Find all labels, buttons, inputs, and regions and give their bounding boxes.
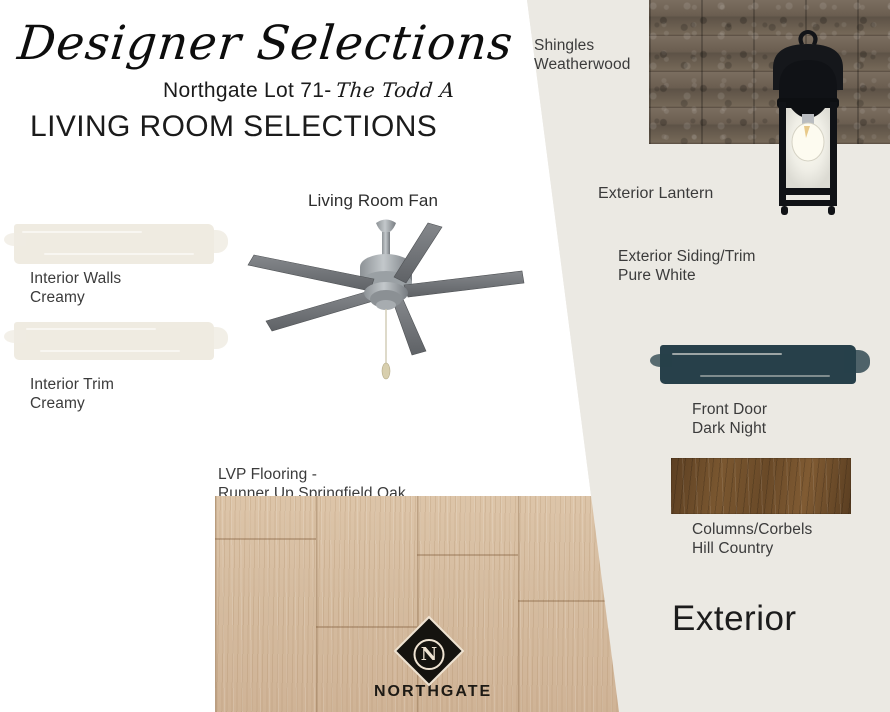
section-heading: LIVING ROOM SELECTIONS [30,110,437,144]
logo-wordmark: NORTHGATE [374,683,484,701]
interior-trim-label: Interior Trim Creamy [30,376,114,413]
exterior-lantern-label: Exterior Lantern [598,184,713,203]
shingles-label: Shingles Weatherwood [534,37,630,74]
logo-diamond-icon: N [396,618,461,683]
designer-selections-board: Designer Selections Northgate Lot 71- Th… [0,0,890,712]
subtitle-model: The Todd A [335,78,456,102]
exterior-heading: Exterior [672,599,797,639]
exterior-siding-label: Exterior Siding/Trim Pure White [618,248,756,285]
interior-walls-swatch [14,224,214,264]
columns-corbels-swatch [671,458,851,514]
interior-walls-label: Interior Walls Creamy [30,270,121,307]
front-door-swatch [660,345,856,384]
subtitle: Northgate Lot 71- The Todd A [163,78,455,103]
exterior-lantern-image [757,28,859,220]
front-door-label: Front Door Dark Night [692,401,767,438]
ceiling-fan-image [236,215,536,395]
logo-monogram: N [414,638,445,669]
northgate-logo: N NORTHGATE [374,628,484,712]
page-title: Designer Selections [15,16,516,71]
living-room-fan-label: Living Room Fan [308,191,438,211]
columns-corbels-label: Columns/Corbels Hill Country [692,521,812,558]
subtitle-plan: Northgate Lot 71- [163,79,332,102]
interior-trim-swatch [14,322,214,360]
